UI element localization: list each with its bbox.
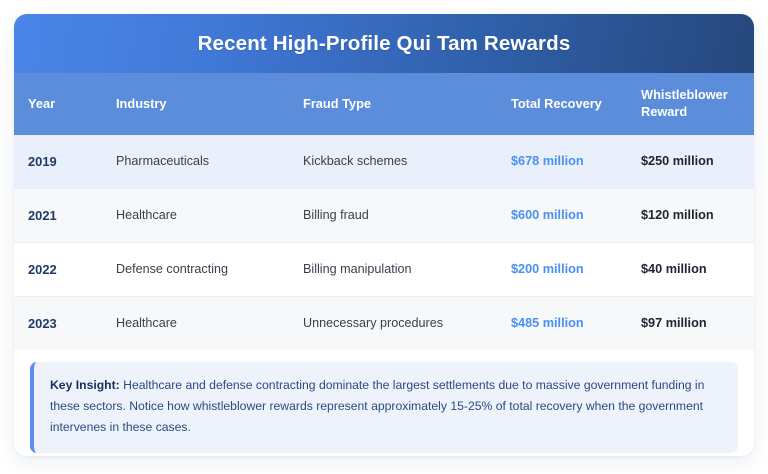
cell-whistleblower-reward: $40 million <box>641 242 754 296</box>
qui-tam-rewards-table: Year Industry Fraud Type Total Recovery … <box>14 73 754 350</box>
cell-whistleblower-reward: $97 million <box>641 296 754 350</box>
cell-total-recovery: $485 million <box>511 296 641 350</box>
cell-industry: Defense contracting <box>116 242 303 296</box>
table-row: 2022 Defense contracting Billing manipul… <box>14 242 754 296</box>
key-insight-label: Key Insight: <box>50 378 120 392</box>
cell-industry: Healthcare <box>116 296 303 350</box>
page-root: Recent High-Profile Qui Tam Rewards Year… <box>0 0 768 474</box>
table-header: Year Industry Fraud Type Total Recovery … <box>14 73 754 135</box>
cell-industry: Healthcare <box>116 188 303 242</box>
cell-fraud-type: Billing fraud <box>303 188 511 242</box>
cell-fraud-type: Unnecessary procedures <box>303 296 511 350</box>
column-header-year[interactable]: Year <box>14 73 116 135</box>
cell-year: 2019 <box>14 135 116 189</box>
insight-section: Key Insight: Healthcare and defense cont… <box>14 350 754 456</box>
column-header-total-recovery[interactable]: Total Recovery <box>511 73 641 135</box>
cell-total-recovery: $200 million <box>511 242 641 296</box>
table-row: 2019 Pharmaceuticals Kickback schemes $6… <box>14 135 754 189</box>
page-title: Recent High-Profile Qui Tam Rewards <box>198 32 571 56</box>
column-header-fraud-type[interactable]: Fraud Type <box>303 73 511 135</box>
cell-year: 2022 <box>14 242 116 296</box>
cell-total-recovery: $600 million <box>511 188 641 242</box>
cell-total-recovery: $678 million <box>511 135 641 189</box>
cell-industry: Pharmaceuticals <box>116 135 303 189</box>
table-body: 2019 Pharmaceuticals Kickback schemes $6… <box>14 135 754 350</box>
table-header-row: Year Industry Fraud Type Total Recovery … <box>14 73 754 135</box>
key-insight-text: Key Insight: Healthcare and defense cont… <box>50 375 720 439</box>
cell-year: 2021 <box>14 188 116 242</box>
table-row: 2023 Healthcare Unnecessary procedures $… <box>14 296 754 350</box>
card-title-bar: Recent High-Profile Qui Tam Rewards <box>14 14 754 73</box>
cell-whistleblower-reward: $120 million <box>641 188 754 242</box>
cell-year: 2023 <box>14 296 116 350</box>
column-header-industry[interactable]: Industry <box>116 73 303 135</box>
key-insight-body: Healthcare and defense contracting domin… <box>50 378 704 435</box>
key-insight-box: Key Insight: Healthcare and defense cont… <box>30 362 738 453</box>
column-header-whistleblower-reward[interactable]: Whistleblower Reward <box>641 73 754 135</box>
table-row: 2021 Healthcare Billing fraud $600 milli… <box>14 188 754 242</box>
cell-whistleblower-reward: $250 million <box>641 135 754 189</box>
cell-fraud-type: Kickback schemes <box>303 135 511 189</box>
rewards-card: Recent High-Profile Qui Tam Rewards Year… <box>14 14 754 456</box>
cell-fraud-type: Billing manipulation <box>303 242 511 296</box>
